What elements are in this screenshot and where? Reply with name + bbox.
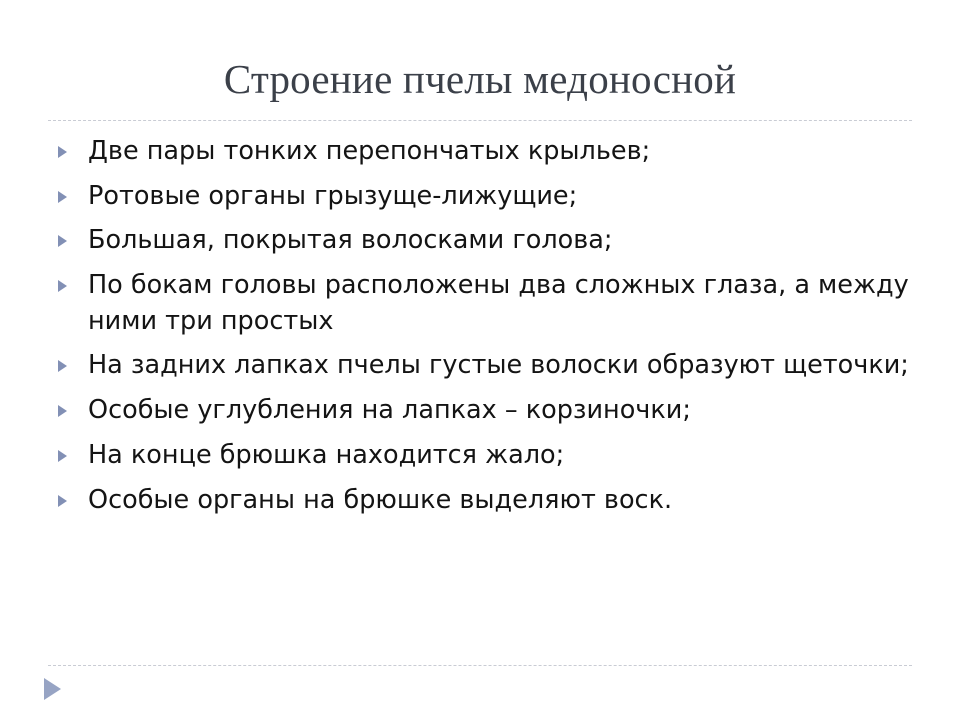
list-item-label: Две пары тонких перепончатых крыльев; (88, 134, 912, 170)
list-item-label: Особые углубления на лапках – корзиночки… (88, 393, 912, 429)
divider-top (48, 120, 912, 121)
slide-title-area: Строение пчелы медоносной (48, 56, 912, 103)
triangle-right-icon (58, 450, 67, 462)
list-item-label: Ротовые органы грызуще-лижущие; (88, 179, 912, 215)
list-item-label: По бокам головы расположены два сложных … (88, 268, 912, 339)
triangle-right-icon (58, 360, 67, 372)
divider-bottom (48, 665, 912, 666)
triangle-right-icon (58, 495, 67, 507)
list-item[interactable]: По бокам головы расположены два сложных … (48, 268, 912, 339)
page-title: Строение пчелы медоносной (48, 56, 912, 103)
list-item[interactable]: Особые углубления на лапках – корзиночки… (48, 393, 912, 429)
footer-triangle-right-icon (44, 678, 61, 700)
list-item[interactable]: Большая, покрытая волосками голова; (48, 223, 912, 259)
list-item-label: Особые органы на брюшке выделяют воск. (88, 483, 912, 519)
triangle-right-icon (58, 146, 67, 158)
list-item[interactable]: Ротовые органы грызуще-лижущие; (48, 179, 912, 215)
list-item-label: Большая, покрытая волосками голова; (88, 223, 912, 259)
slide-canvas: Строение пчелы медоносной Две пары тонки… (0, 0, 960, 720)
list-item[interactable]: На задних лапках пчелы густые волоски об… (48, 348, 912, 384)
bullet-list: Две пары тонких перепончатых крыльев; Ро… (48, 134, 912, 518)
triangle-right-icon (58, 235, 67, 247)
list-item[interactable]: Особые органы на брюшке выделяют воск. (48, 483, 912, 519)
triangle-right-icon (58, 191, 67, 203)
list-item[interactable]: На конце брюшка находится жало; (48, 438, 912, 474)
triangle-right-icon (58, 405, 67, 417)
triangle-right-icon (58, 280, 67, 292)
list-item[interactable]: Две пары тонких перепончатых крыльев; (48, 134, 912, 170)
list-item-label: На конце брюшка находится жало; (88, 438, 912, 474)
list-item-label: На задних лапках пчелы густые волоски об… (88, 348, 912, 384)
